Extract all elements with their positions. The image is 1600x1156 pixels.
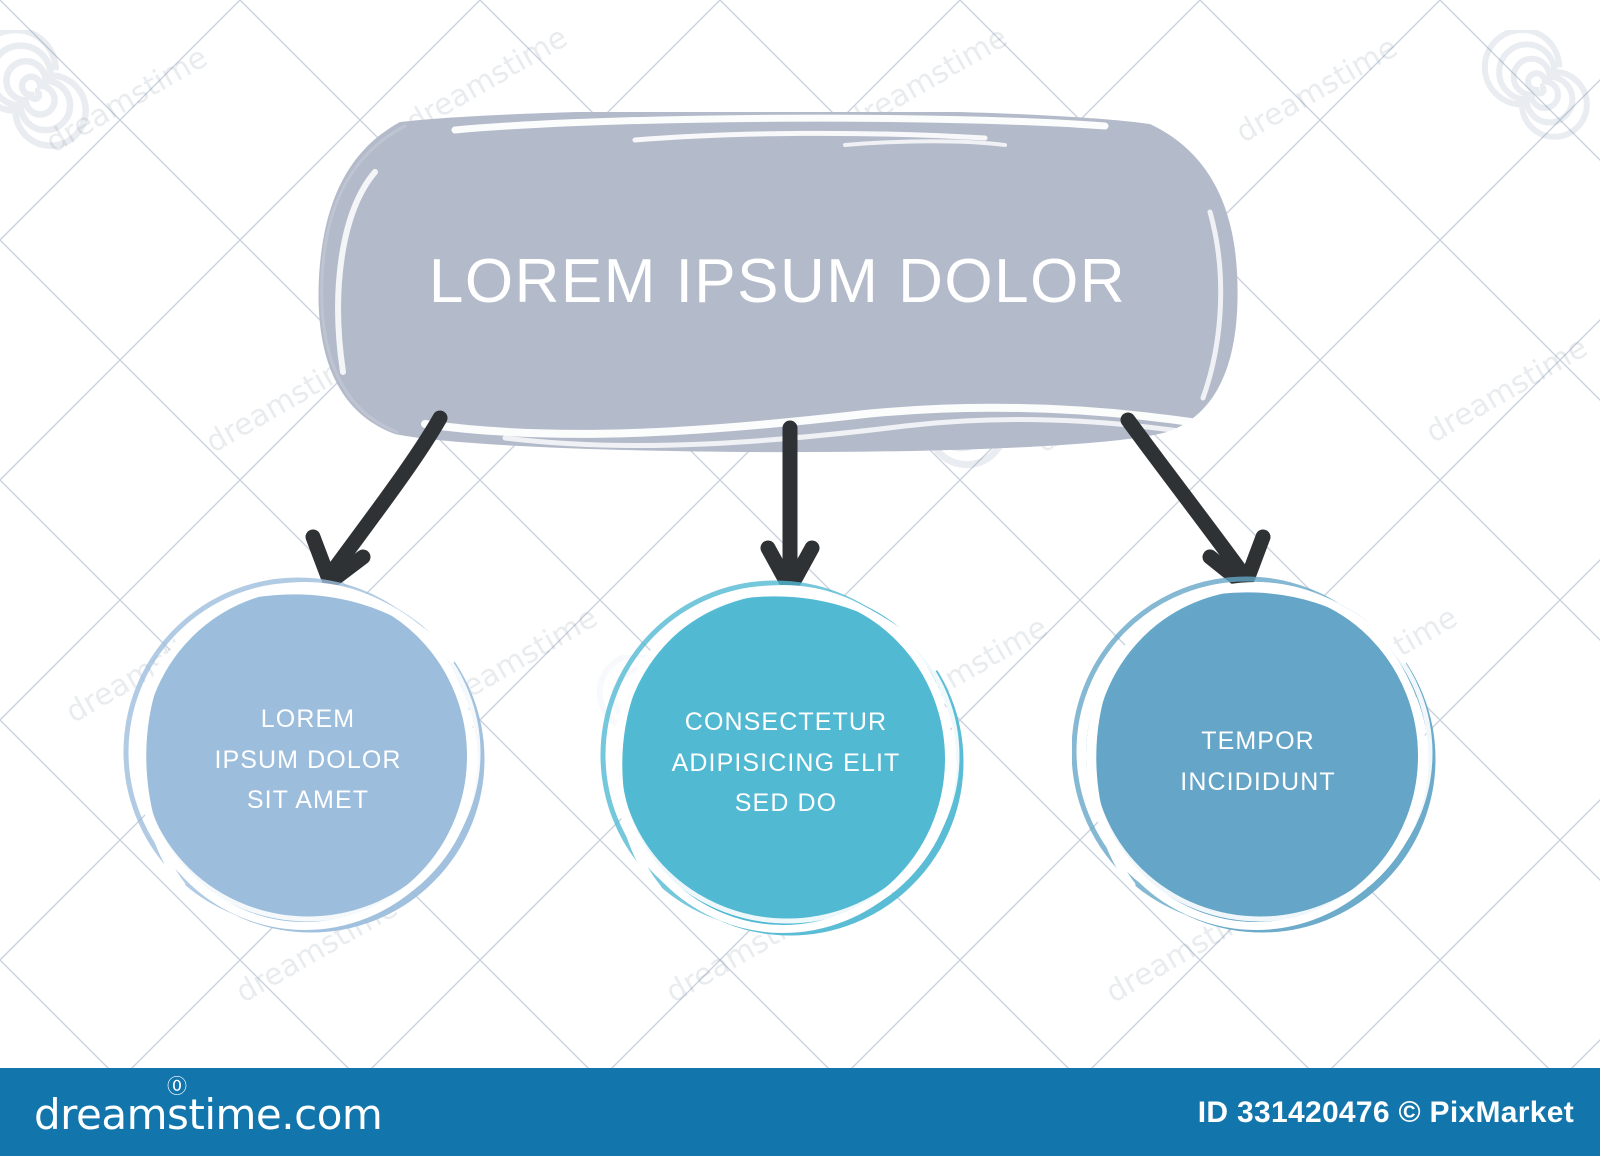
dreamstime-spiral-icon: ⓪	[167, 1076, 187, 1096]
node-2-label: CONSECTETURADIPISICING ELITSED DO	[600, 702, 972, 824]
node-3-label-line: INCIDIDUNT	[1072, 762, 1444, 803]
arrow-to-node-3	[1128, 420, 1263, 587]
arrow-to-node-1	[313, 418, 440, 585]
node-3-label-line: TEMPOR	[1072, 721, 1444, 762]
dreamstime-logo-text: dreamstime.com	[34, 1090, 382, 1139]
node-1-label-line: SIT AMET	[122, 780, 494, 821]
node-2-label-line: ADIPISICING ELIT	[600, 743, 972, 784]
arrow-to-node-2	[768, 428, 812, 588]
node-1-label-line: IPSUM DOLOR	[122, 740, 494, 781]
node-1-label: LOREMIPSUM DOLORSIT AMET	[122, 699, 494, 821]
node-2-label-line: SED DO	[600, 783, 972, 824]
node-2[interactable]: CONSECTETURADIPISICING ELITSED DO	[600, 580, 972, 942]
diagram-canvas: dreamstime dreamstime dreamstime dreamst…	[0, 0, 1600, 1156]
node-1-label-line: LOREM	[122, 699, 494, 740]
node-3-label: TEMPORINCIDIDUNT	[1072, 721, 1444, 802]
node-3[interactable]: TEMPORINCIDIDUNT	[1072, 575, 1444, 937]
dreamstime-logo: dreamstime.com ⓪	[34, 1090, 382, 1139]
watermark-credit: ID 331420476 © PixMarket	[1198, 1096, 1574, 1130]
node-2-label-line: CONSECTETUR	[600, 702, 972, 743]
watermark-bar: dreamstime.com ⓪ ID 331420476 © PixMarke…	[0, 1068, 1600, 1156]
node-1[interactable]: LOREMIPSUM DOLORSIT AMET	[122, 575, 494, 937]
